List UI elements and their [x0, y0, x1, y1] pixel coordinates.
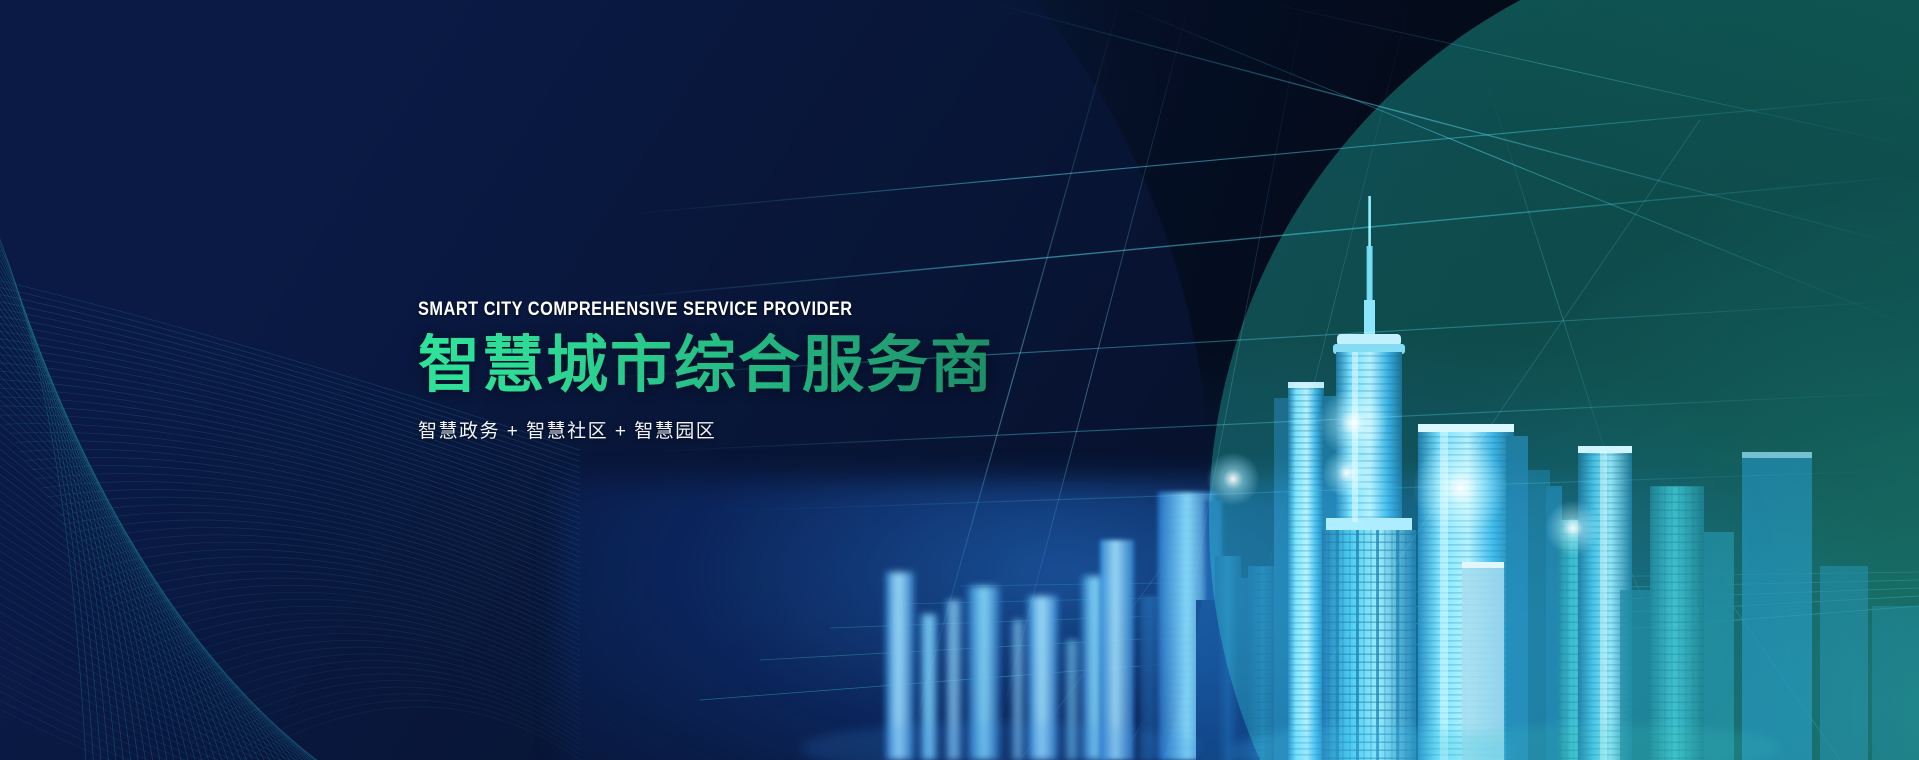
- hero-subline-services: 智慧政务 + 智慧社区 + 智慧园区: [418, 416, 1178, 443]
- green-glow-overlay: [1369, 180, 1919, 760]
- hero-copy-block: SMART CITY COMPREHENSIVE SERVICE PROVIDE…: [418, 300, 1178, 443]
- hero-banner: SMART CITY COMPREHENSIVE SERVICE PROVIDE…: [0, 0, 1919, 760]
- hero-headline-chinese: 智慧城市综合服务商: [418, 333, 1178, 400]
- hero-eyebrow-english: SMART CITY COMPREHENSIVE SERVICE PROVIDE…: [418, 300, 1072, 319]
